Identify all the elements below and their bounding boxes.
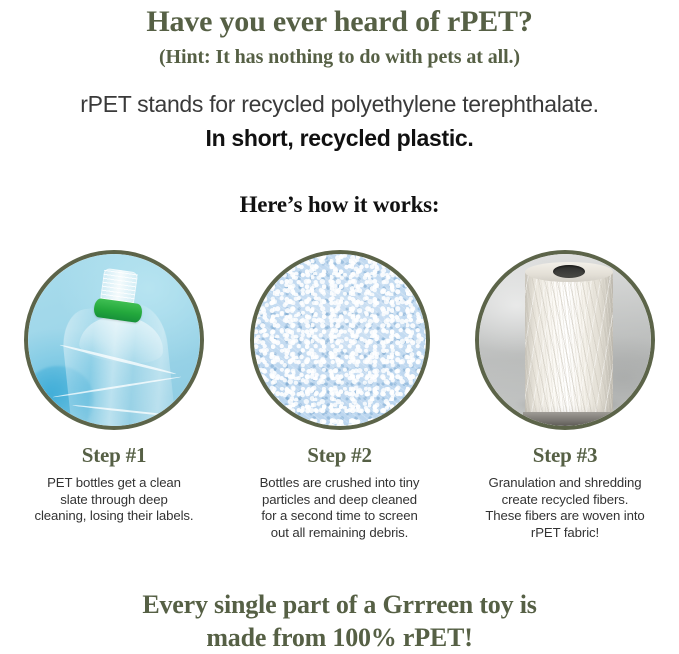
spool-base-rim (523, 412, 615, 426)
step-2-caption: Bottles are crushed into tiny particles … (240, 475, 440, 541)
step-3-caption: Granulation and shredding create recycle… (465, 475, 665, 541)
steps-row: Step #1 PET bottles get a clean slate th… (0, 250, 679, 541)
step-2-label: Step #2 (307, 442, 372, 468)
footer-tagline: Every single part of a Grrreen toy is ma… (0, 588, 679, 654)
definition-block: rPET stands for recycled polyethylene te… (0, 89, 679, 153)
step-3-image-circle (475, 250, 655, 430)
step-card-3: Step #3 Granulation and shredding create… (459, 250, 671, 541)
definition-line-1: rPET stands for recycled polyethylene te… (0, 89, 679, 119)
pet-flakes-granulate-photo (254, 254, 426, 426)
step-card-1: Step #1 PET bottles get a clean slate th… (8, 250, 220, 541)
step-1-caption: PET bottles get a clean slate through de… (14, 475, 214, 525)
step-card-2: Step #2 Bottles are crushed into tiny pa… (234, 250, 446, 541)
spool-thread-body (525, 268, 613, 420)
flakes-grain-overlay (254, 254, 426, 426)
hint-subtitle: (Hint: It has nothing to do with pets at… (0, 44, 679, 70)
step-3-label: Step #3 (533, 442, 598, 468)
recycled-fiber-spool-photo (479, 254, 651, 426)
step-1-label: Step #1 (82, 442, 147, 468)
infographic-page: Have you ever heard of rPET? (Hint: It h… (0, 0, 679, 649)
page-title: Have you ever heard of rPET? (0, 4, 679, 40)
spool-thread-winding (525, 268, 613, 420)
how-it-works-heading: Here’s how it works: (0, 190, 679, 220)
step-1-image-circle (24, 250, 204, 430)
definition-line-2: In short, recycled plastic. (0, 123, 679, 153)
step-2-image-circle (250, 250, 430, 430)
spool-center-hole (553, 265, 585, 278)
crushed-pet-bottle-photo (28, 254, 200, 426)
